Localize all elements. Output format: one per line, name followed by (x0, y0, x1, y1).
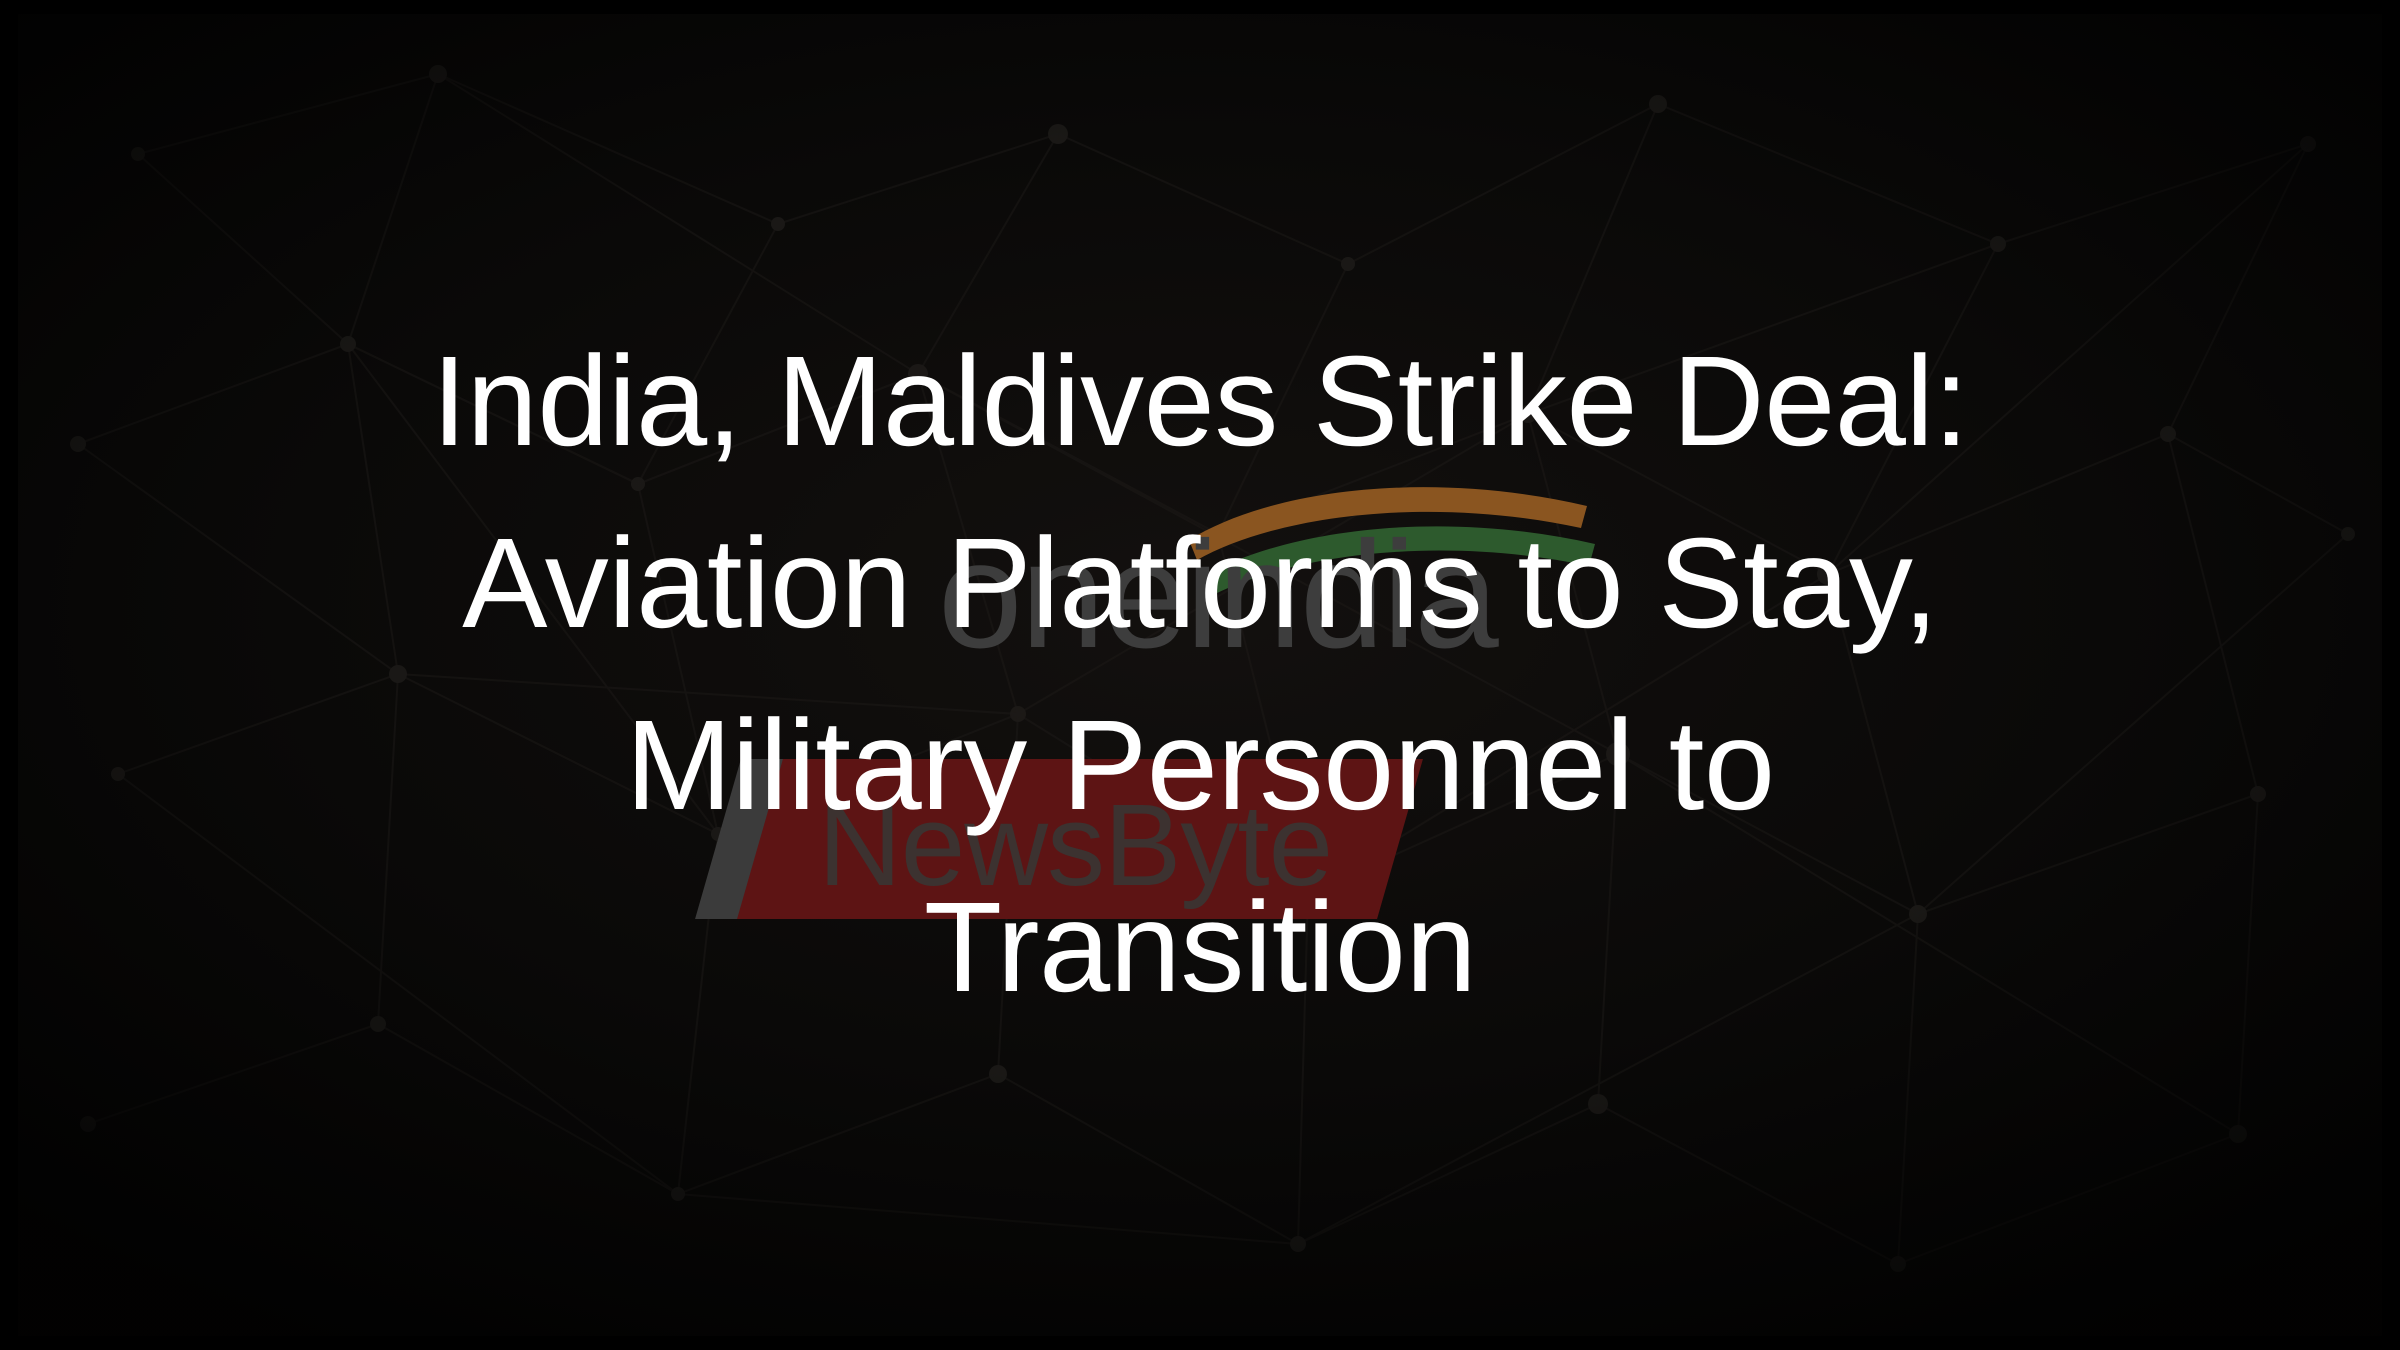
headline-line-4: Transition (168, 857, 2232, 1039)
headline-line-2: Aviation Platforms to Stay, (168, 493, 2232, 675)
headline-line-3: Military Personnel to (168, 675, 2232, 857)
headline-block: India, Maldives Strike Deal: Aviation Pl… (18, 14, 2382, 1336)
screenshot-frame: oneindia NewsByte India, Maldives Strike… (0, 0, 2400, 1350)
headline-line-1: India, Maldives Strike Deal: (168, 311, 2232, 493)
news-card: oneindia NewsByte India, Maldives Strike… (18, 14, 2382, 1336)
